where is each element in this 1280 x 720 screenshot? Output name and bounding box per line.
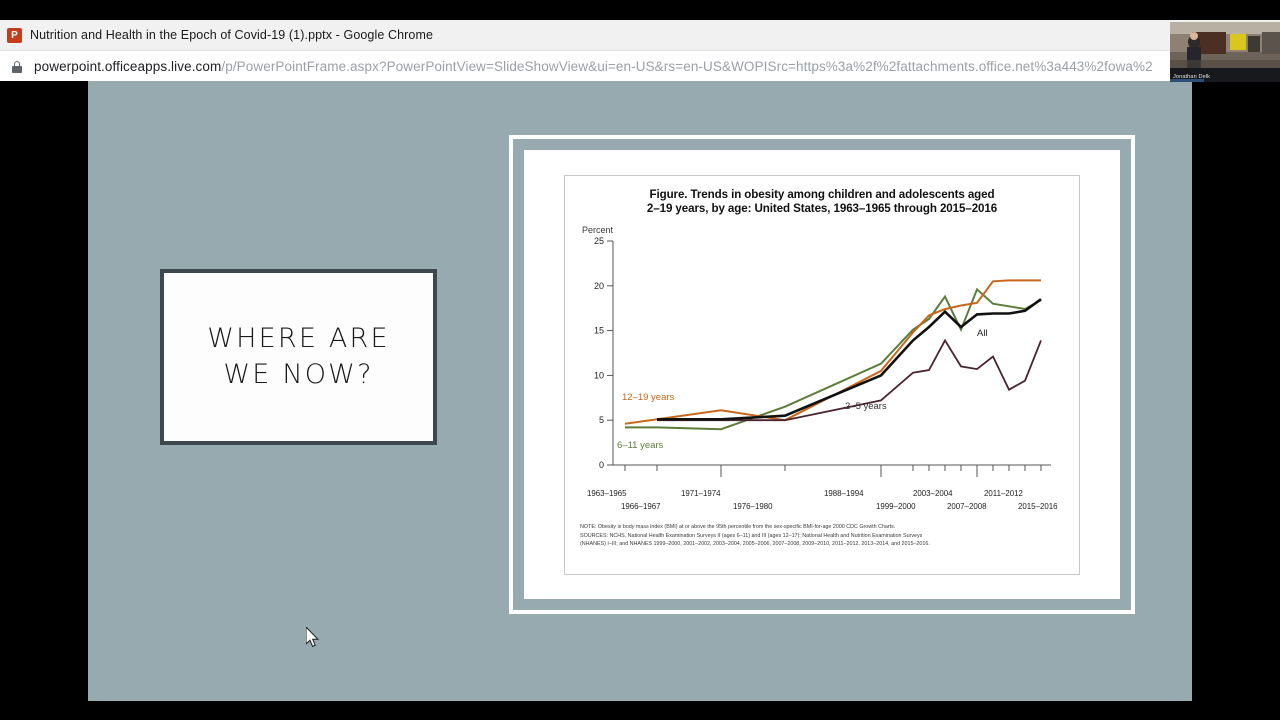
figure-title: Figure. Trends in obesity among children… [581,188,1063,218]
x-tick-label: 1963–1965 [587,489,627,498]
figure-title-line1: Figure. Trends in obesity among children… [581,188,1063,203]
x-axis-labels: 1963–1965 1971–1974 1988–1994 2003–2004 … [573,489,1071,517]
figure-note-line: (NHANES) I–III; and NHANES 1999–2000, 20… [580,540,1065,548]
plot-area: 0 5 10 15 20 25 [573,233,1071,488]
svg-text:25: 25 [594,236,604,246]
x-tick-label: 1976–1980 [733,502,773,511]
address-bar[interactable]: powerpoint.officeapps.live.com/p/PowerPo… [0,50,1280,82]
x-tick-label: 2015–2016 [1018,502,1058,511]
slide-heading-line2: WE NOW? [207,357,390,393]
figure-card: Figure. Trends in obesity among children… [524,150,1120,599]
slide-canvas[interactable]: WHERE ARE WE NOW? Figure. Trends in obes… [88,81,1192,701]
svg-text:10: 10 [594,371,604,381]
series-line-12-19 [625,281,1041,424]
figure-frame-gap: Figure. Trends in obesity among children… [513,139,1131,610]
participant-video-tile[interactable]: Jonathan Delk [1170,22,1280,82]
lock-icon [10,60,24,74]
svg-text:15: 15 [594,326,604,336]
figure-title-line2: 2–19 years, by age: United States, 1963–… [581,202,1063,217]
series-label-12-19: 12–19 years [622,392,675,403]
x-tick-label: 1999–2000 [876,502,916,511]
url-path: /p/PowerPointFrame.aspx?PowerPointView=S… [221,59,1152,74]
x-tick-label: 2003–2004 [913,489,953,498]
series-label-2-5: 2–5 years [845,401,887,412]
obesity-trends-figure: Figure. Trends in obesity among children… [564,175,1080,575]
slide-heading-line1: WHERE ARE [207,321,390,357]
screen: Nutrition and Health in the Epoch of Cov… [0,0,1280,720]
x-tick-label: 1971–1974 [681,489,721,498]
slideshow-stage[interactable]: WHERE ARE WE NOW? Figure. Trends in obes… [0,81,1280,720]
x-tick-label: 2011–2012 [984,489,1023,498]
svg-text:5: 5 [599,415,604,425]
url-host: powerpoint.officeapps.live.com [34,59,221,74]
browser-window: Nutrition and Health in the Epoch of Cov… [0,20,1280,81]
figure-note-line: NOTE: Obesity is body mass index (BMI) a… [580,523,1065,531]
series-label-6-11: 6–11 years [617,440,664,451]
figure-frame: Figure. Trends in obesity among children… [509,135,1135,614]
x-tick-label: 2007–2008 [947,502,987,511]
series-line-6-11 [625,290,1041,430]
x-tick-label: 1966–1967 [621,502,661,511]
mouse-cursor [306,627,320,648]
slide-heading-box: WHERE ARE WE NOW? [160,269,437,445]
svg-text:20: 20 [594,281,604,291]
window-title: Nutrition and Health in the Epoch of Cov… [30,28,433,42]
series-label-all: All [977,328,988,339]
powerpoint-icon [7,28,22,43]
browser-title-bar: Nutrition and Health in the Epoch of Cov… [0,20,1280,50]
url-text: powerpoint.officeapps.live.com/p/PowerPo… [34,59,1153,74]
slide-heading-text: WHERE ARE WE NOW? [207,321,390,393]
figure-notes: NOTE: Obesity is body mass index (BMI) a… [580,523,1065,548]
video-feed-image [1170,22,1280,68]
video-progress-bar [1170,79,1204,82]
figure-note-line: SOURCES: NCHS, National Health Examinati… [580,532,1065,540]
chart-svg: 0 5 10 15 20 25 [573,233,1073,488]
x-tick-label: 1988–1994 [824,489,864,498]
svg-text:0: 0 [599,460,604,470]
